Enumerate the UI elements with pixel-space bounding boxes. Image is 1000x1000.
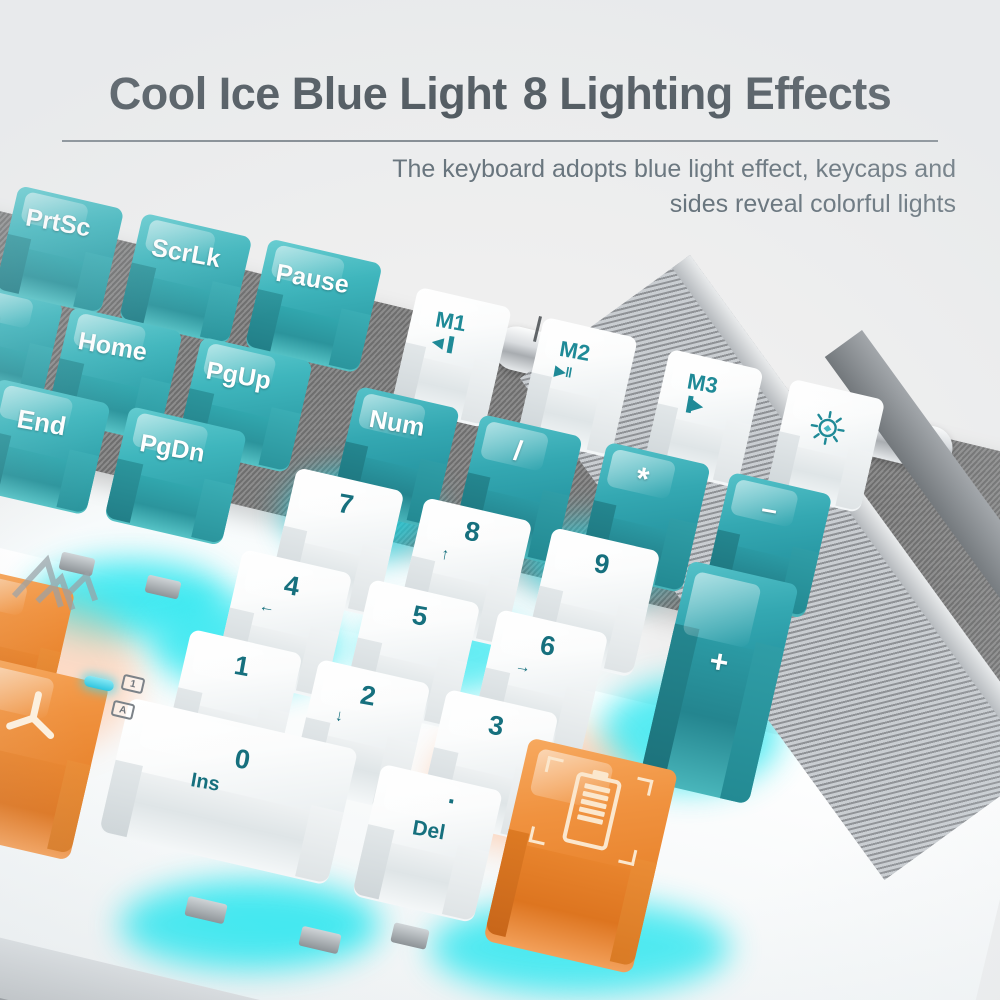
capslock-indicator-icon: A [110, 700, 135, 721]
subtitle-line-2: sides reveal colorful lights [670, 190, 956, 218]
numlock-glyph: 1 [129, 678, 137, 690]
marketing-header: Cool Ice Blue Light8 Lighting Effects Th… [0, 0, 1000, 240]
capslock-glyph: A [118, 704, 128, 716]
page-title: Cool Ice Blue Light8 Lighting Effects [0, 68, 1000, 120]
brightness-sun-icon [804, 405, 850, 451]
title-part-2: 8 Lighting Effects [523, 68, 892, 119]
power-led-indicator [83, 675, 115, 692]
title-divider [62, 140, 938, 142]
numlock-indicator-icon: 1 [120, 674, 145, 695]
page-subtitle: The keyboard adopts blue light effect, k… [196, 152, 956, 222]
indicator-led-cluster: 1 A [78, 668, 158, 728]
title-part-1: Cool Ice Blue Light [109, 68, 507, 119]
subtitle-line-1: The keyboard adopts blue light effect, k… [392, 155, 956, 183]
